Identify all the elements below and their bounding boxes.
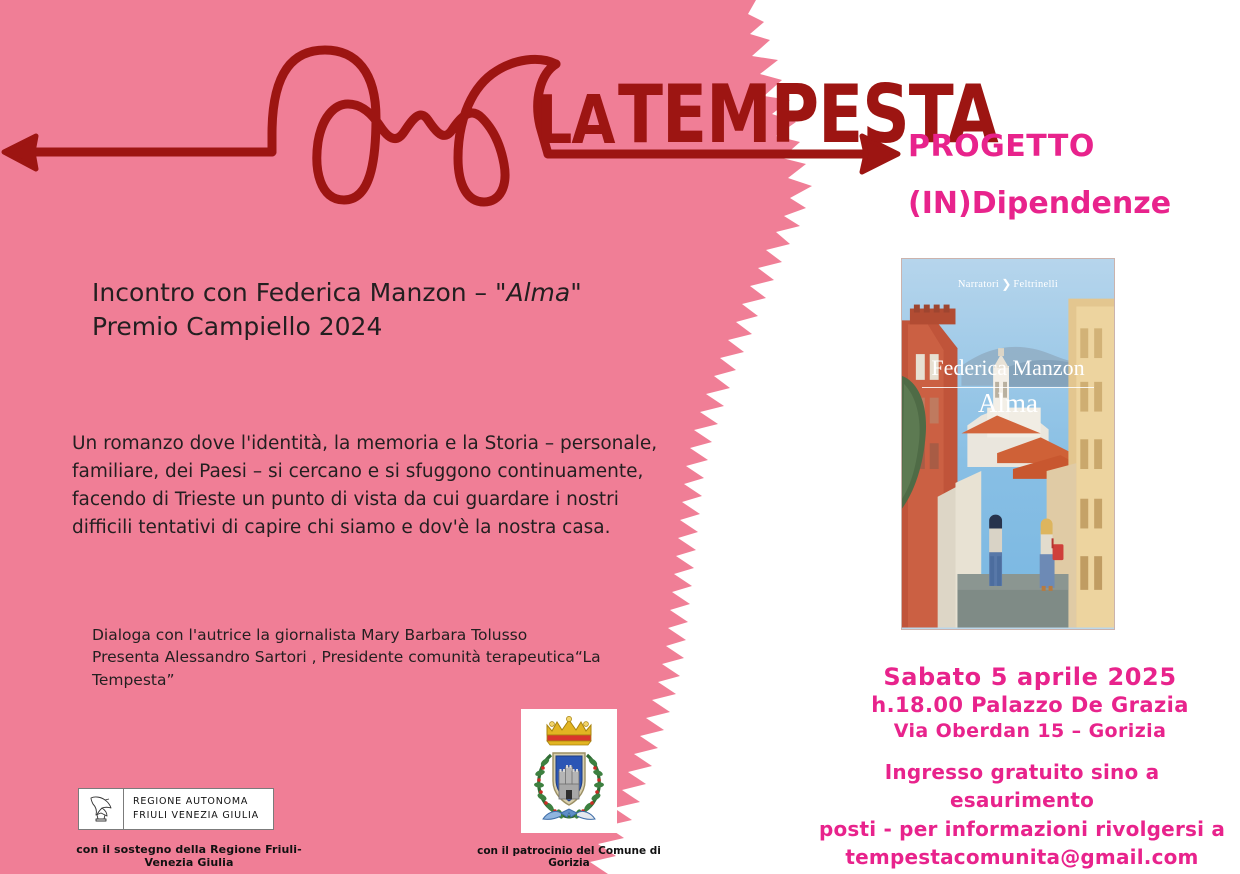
- friuli-eagle-glyph: [87, 794, 115, 824]
- sponsor-logo-gorizia: [521, 709, 617, 833]
- brand-title: LA TEMPESTA: [536, 72, 896, 154]
- event-contact-email[interactable]: tempestacomunita@gmail.com: [812, 843, 1232, 871]
- event-time-venue: h.18.00 Palazzo De Grazia: [830, 692, 1230, 719]
- book-cover: Narratori❮Feltrinelli Federica Manzon Al…: [901, 258, 1115, 630]
- book-synopsis: Un romanzo dove l'identità, la memoria e…: [72, 430, 662, 542]
- credits-line-presenter: Presenta Alessandro Sartori , Presidente…: [92, 646, 672, 691]
- event-date: Sabato 5 aprile 2025: [830, 662, 1230, 692]
- project-heading-line2: (IN)Dipendenze: [908, 187, 1238, 220]
- event-address: Via Oberdan 15 – Gorizia: [830, 719, 1230, 745]
- sponsor-logo-fvg: REGIONE AUTONOMA FRIULI VENEZIA GIULIA: [78, 788, 274, 830]
- headline-suffix: ": [570, 278, 582, 307]
- event-headline: Incontro con Federica Manzon – "Alma" Pr…: [92, 276, 652, 343]
- project-heading: PROGETTO (IN)Dipendenze: [908, 130, 1238, 220]
- event-datetime-block: Sabato 5 aprile 2025 h.18.00 Palazzo De …: [830, 662, 1230, 745]
- sponsor-fvg-name: REGIONE AUTONOMA FRIULI VENEZIA GIULIA: [124, 795, 273, 823]
- headline-book-title: Alma: [506, 278, 570, 307]
- book-publisher: Narratori: [958, 279, 999, 290]
- book-imprint: Feltrinelli: [1013, 279, 1058, 290]
- arrow-left-head: [4, 136, 36, 169]
- book-publisher-line: Narratori❮Feltrinelli: [902, 277, 1114, 292]
- book-cover-artwork: [902, 259, 1114, 628]
- sponsor-fvg-caption: con il sostegno della Regione Friuli-Ven…: [64, 843, 314, 869]
- synopsis-line: familiare, dei Paesi – si cercano e si s…: [72, 458, 662, 486]
- event-info-line-1: Ingresso gratuito sino a esaurimento: [812, 758, 1232, 815]
- sponsor-gorizia-caption: con il patrocinio del Comune di Gorizia: [455, 845, 683, 869]
- synopsis-line: facendo di Trieste un punto di vista da …: [72, 486, 662, 514]
- event-info-block: Ingresso gratuito sino a esaurimento pos…: [812, 758, 1232, 874]
- gorizia-coat-of-arms-icon: [521, 709, 617, 833]
- brand-title-la: LA: [536, 87, 615, 154]
- sponsor-fvg-name-line1: REGIONE AUTONOMA: [133, 795, 273, 809]
- event-credits: Dialoga con l'autrice la giornalista Mar…: [92, 624, 672, 691]
- poster-canvas: LA TEMPESTA PROGETTO (IN)Dipendenze Inco…: [0, 0, 1240, 874]
- credits-line-moderator: Dialoga con l'autrice la giornalista Mar…: [92, 624, 672, 646]
- friuli-eagle-icon: [79, 789, 124, 829]
- headline-prefix: Incontro con Federica Manzon – ": [92, 278, 506, 307]
- synopsis-line: Un romanzo dove l'identità, la memoria e…: [72, 430, 662, 458]
- headline-line2: Premio Campiello 2024: [92, 310, 652, 344]
- feltrinelli-mark-icon: ❮: [1001, 277, 1011, 292]
- headline-line1: Incontro con Federica Manzon – "Alma": [92, 276, 652, 310]
- event-info-line-2: posti - per informazioni rivolgersi a: [812, 815, 1232, 843]
- book-author-name: Federica Manzon: [902, 355, 1114, 381]
- synopsis-line: difficili tentativi di capire chi siamo …: [72, 514, 662, 542]
- sponsor-fvg-name-line2: FRIULI VENEZIA GIULIA: [133, 809, 273, 823]
- book-title-text: Alma: [902, 388, 1114, 419]
- project-heading-line1: PROGETTO: [908, 130, 1238, 163]
